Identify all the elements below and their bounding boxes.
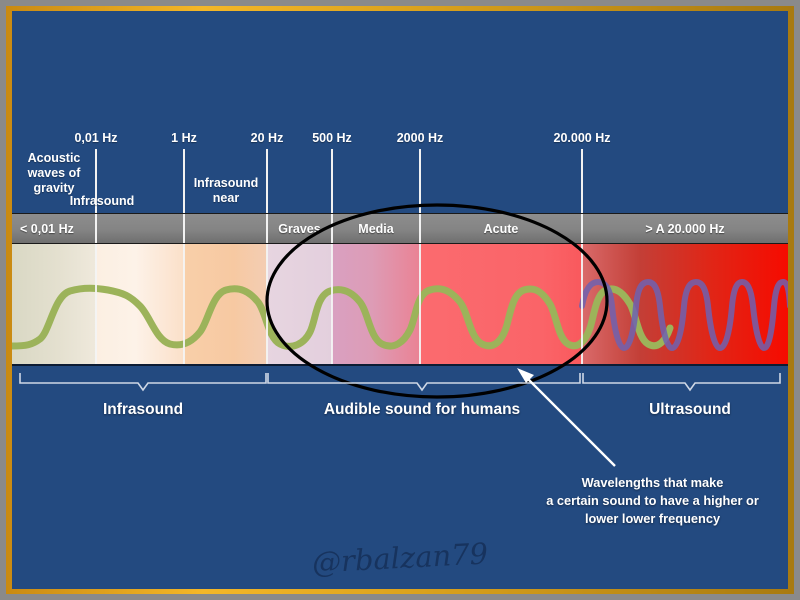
diagram-stage: 0,01 Hz 1 Hz 20 Hz 500 Hz 2000 Hz 20.000… [12, 11, 788, 589]
figure-root: 0,01 Hz 1 Hz 20 Hz 500 Hz 2000 Hz 20.000… [0, 0, 800, 600]
bracket-ultrasound [583, 373, 780, 390]
overlay-svg [12, 11, 788, 589]
highlight-ellipse [267, 205, 607, 397]
bracket-infrasound [20, 373, 266, 390]
